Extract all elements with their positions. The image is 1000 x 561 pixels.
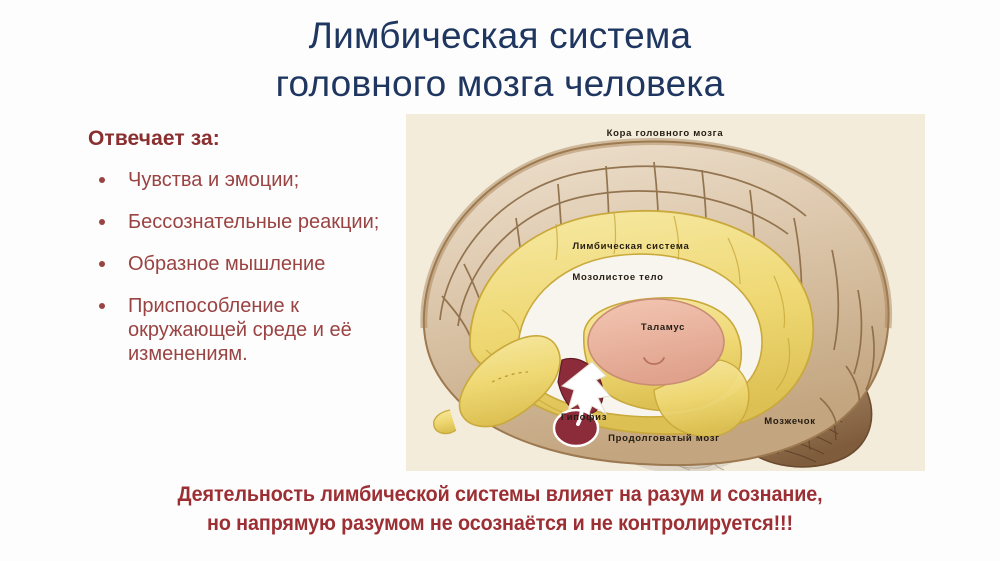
bullet-point-icon <box>99 219 105 225</box>
label-limbic-system: Лимбическая система <box>573 241 690 252</box>
bottom-caption-line-2: но напрямую разумом не осознаётся и не к… <box>30 509 970 538</box>
label-corpus-callosum: Мозолистое тело <box>572 272 663 283</box>
page-title-line-1: Лимбическая система <box>0 12 1000 60</box>
responsibilities-heading: Отвечает за: <box>88 126 398 152</box>
label-pituitary: Гипофиз <box>561 412 607 423</box>
page-title: Лимбическая система головного мозга чело… <box>0 12 1000 108</box>
bullet-point-icon <box>99 303 105 309</box>
bullet-point-icon <box>99 177 105 183</box>
list-item: Чувства и эмоции; <box>88 168 398 192</box>
label-cortex: Кора головного мозга <box>607 128 724 139</box>
responsibilities-list: Чувства и эмоции; Бессознательные реакци… <box>88 168 398 366</box>
list-item-label: Образное мышление <box>128 253 325 275</box>
responsibilities-section: Отвечает за: Чувства и эмоции; Бессознат… <box>88 126 398 384</box>
bottom-caption-line-1: Деятельность лимбической системы влияет … <box>30 480 970 509</box>
label-medulla-oblongata: Продолговатый мозг <box>608 433 720 444</box>
thalamus-group <box>588 299 724 385</box>
bullet-point-icon <box>99 261 105 267</box>
list-item: Бессознательные реакции; <box>88 210 398 234</box>
brain-diagram-figure: Кора головного мозга Лимбическая система… <box>406 114 925 471</box>
list-item-label: Чувства и эмоции; <box>128 169 299 191</box>
list-item-label: Приспособление к окружающей среде и её и… <box>128 295 352 365</box>
label-thalamus: Таламус <box>641 322 685 333</box>
label-cerebellum: Мозжечок <box>764 416 816 427</box>
list-item: Приспособление к окружающей среде и её и… <box>88 294 398 366</box>
list-item-label: Бессознательные реакции; <box>128 211 379 233</box>
bottom-caption: Деятельность лимбической системы влияет … <box>0 480 1000 538</box>
list-item: Образное мышление <box>88 252 398 276</box>
page-title-line-2: головного мозга человека <box>0 60 1000 108</box>
brain-diagram-svg: Кора головного мозга Лимбическая система… <box>406 114 925 471</box>
